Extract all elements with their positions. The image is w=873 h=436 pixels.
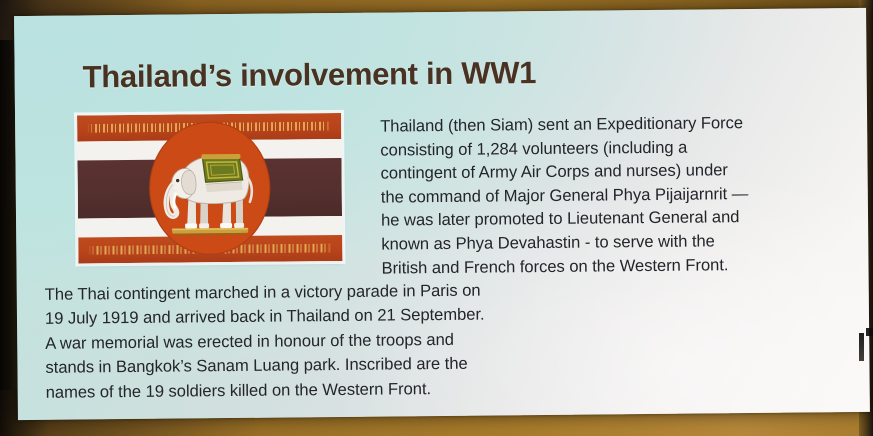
- wall-fixture-mark: [859, 333, 864, 361]
- projected-slide-photo: Thailand’s involvement in WW1: [0, 0, 873, 436]
- white-elephant-emblem-icon: [147, 120, 272, 257]
- paragraph-line: names of the 19 soldiers killed on the W…: [46, 375, 606, 405]
- paragraph-line: British and French forces on the Western…: [381, 252, 833, 280]
- wall-fixture-mark-secondary: [866, 328, 873, 336]
- victory-parade-paragraph: The Thai contingent marched in a victory…: [45, 277, 606, 404]
- expeditionary-force-paragraph: Thailand (then Siam) sent an Expeditiona…: [380, 110, 834, 279]
- presentation-slide: Thailand’s involvement in WW1: [14, 8, 870, 420]
- page-title: Thailand’s involvement in WW1: [82, 55, 536, 95]
- flag-of-siam-image: [77, 113, 342, 264]
